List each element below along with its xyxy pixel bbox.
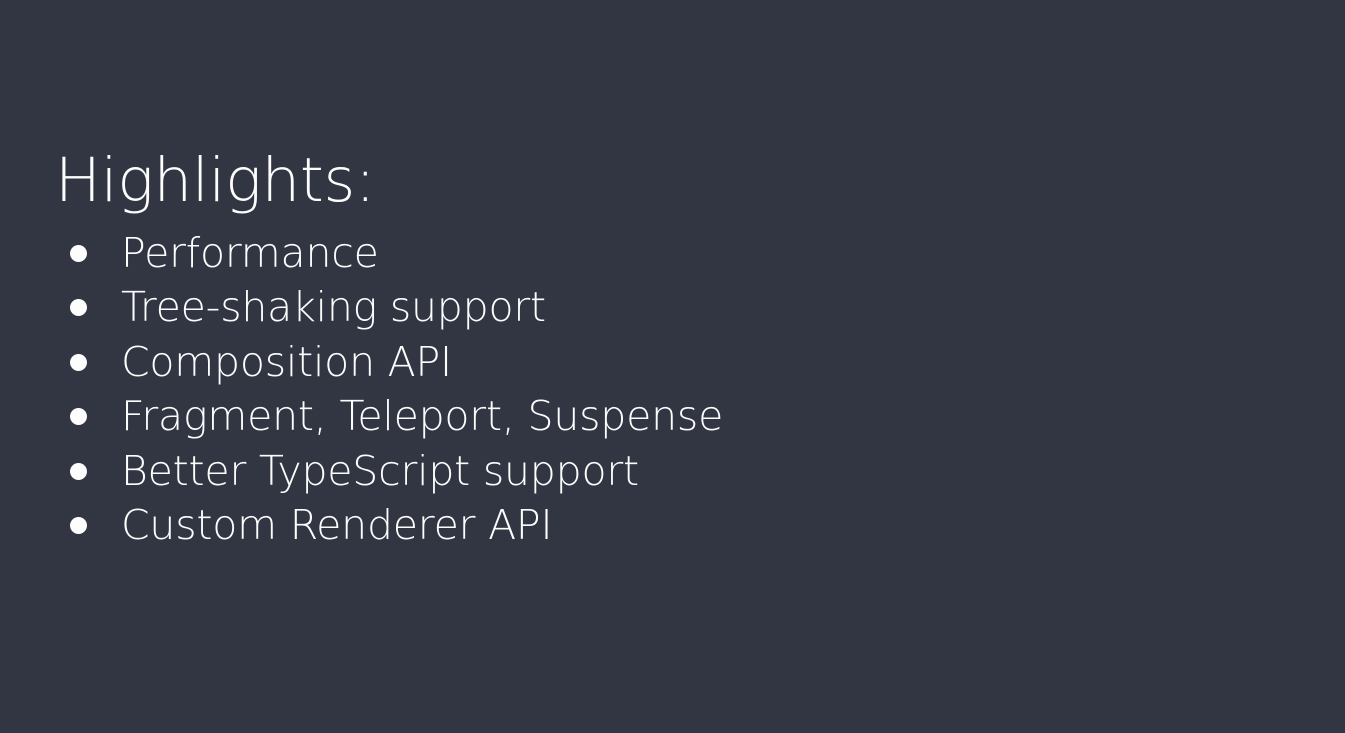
list-item: Composition API bbox=[55, 335, 1255, 390]
bullet-dot-cell bbox=[55, 299, 121, 316]
list-item: Performance bbox=[55, 226, 1255, 281]
bullet-dot-cell bbox=[55, 354, 121, 371]
highlights-bullet-list: Performance Tree-shaking support Composi… bbox=[55, 226, 1255, 553]
page-title: Highlights: bbox=[55, 148, 1255, 214]
bullet-dot-cell bbox=[55, 408, 121, 425]
bullet-dot-icon bbox=[70, 354, 87, 371]
list-item: Custom Renderer API bbox=[55, 498, 1255, 553]
bullet-dot-icon bbox=[70, 408, 87, 425]
presentation-slide: Highlights: Performance Tree-shaking sup… bbox=[0, 0, 1345, 733]
bullet-dot-icon bbox=[70, 245, 87, 262]
list-item: Better TypeScript support bbox=[55, 444, 1255, 499]
list-item-label: Better TypeScript support bbox=[121, 451, 639, 492]
bullet-dot-cell bbox=[55, 517, 121, 534]
bullet-dot-icon bbox=[70, 463, 87, 480]
list-item-label: Performance bbox=[121, 233, 379, 274]
bullet-dot-cell bbox=[55, 463, 121, 480]
list-item-label: Composition API bbox=[121, 342, 452, 383]
list-item-label: Tree-shaking support bbox=[121, 287, 546, 328]
list-item: Fragment, Teleport, Suspense bbox=[55, 389, 1255, 444]
bullet-dot-icon bbox=[70, 517, 87, 534]
list-item: Tree-shaking support bbox=[55, 280, 1255, 335]
bullet-dot-cell bbox=[55, 245, 121, 262]
bullet-dot-icon bbox=[70, 299, 87, 316]
list-item-label: Fragment, Teleport, Suspense bbox=[121, 396, 723, 437]
slide-content: Highlights: Performance Tree-shaking sup… bbox=[55, 148, 1255, 553]
list-item-label: Custom Renderer API bbox=[121, 505, 552, 546]
